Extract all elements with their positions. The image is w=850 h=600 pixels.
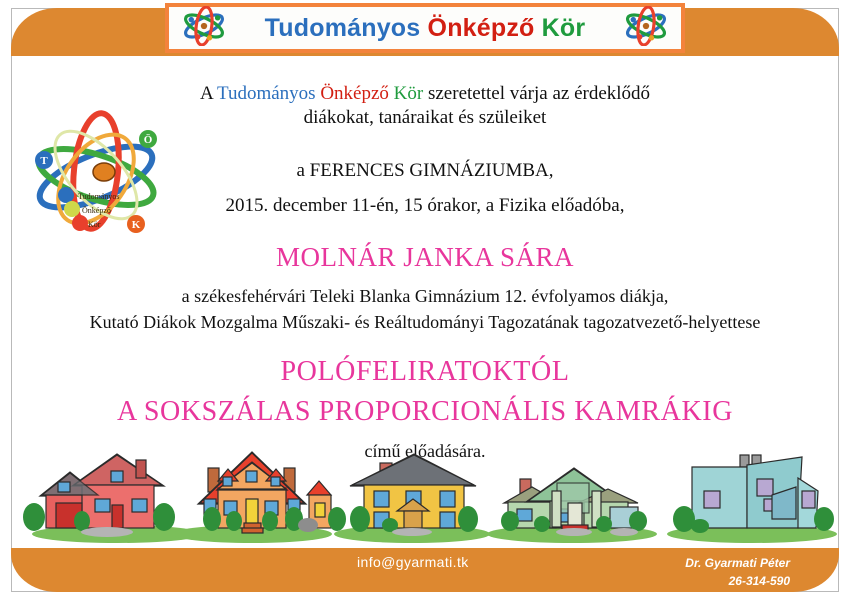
intro-line-2: diákokat, tanáraikat és szüleiket xyxy=(12,106,838,130)
atom-icon xyxy=(181,6,227,51)
poster-text-block: A Tudományos Önképző Kör szeretettel vár… xyxy=(12,57,838,462)
banner-word-tudomanyos: Tudományos xyxy=(265,14,421,42)
red-ranch-house xyxy=(23,454,202,543)
speaker-subtitle-2: Kutató Diákok Mozgalma Műszaki- és Reált… xyxy=(12,311,838,333)
intro-org-kor: Kör xyxy=(394,83,424,104)
footer-contact-name: Dr. Gyarmati Péter xyxy=(685,556,790,570)
atom-icon xyxy=(623,6,669,51)
footer-email[interactable]: info@gyarmati.tk xyxy=(357,554,469,570)
intro-line-1: A Tudományos Önképző Kör szeretettel vár… xyxy=(12,82,838,106)
organization-banner: Tudományos Önképző Kör xyxy=(165,3,685,53)
banner-word-onkepzo: Önképző xyxy=(428,14,535,42)
lecture-title-line-1: POLÓFELIRATOKTÓL xyxy=(12,355,838,390)
speaker-subtitle-1: a székesfehérvári Teleki Blanka Gimnáziu… xyxy=(12,285,838,307)
yellow-colonial-house xyxy=(334,454,490,543)
houses-row-illustration xyxy=(12,433,838,548)
footer-contact-phone: 26-314-590 xyxy=(729,574,790,588)
orange-two-story-house xyxy=(172,452,346,543)
intro-prefix: A xyxy=(200,83,217,104)
banner-word-kor: Kör xyxy=(542,14,586,42)
banner-title: Tudományos Önképző Kör xyxy=(265,14,586,43)
green-bungalow-house xyxy=(487,468,657,543)
intro-suffix: szeretettel várja az érdeklődő xyxy=(423,83,650,104)
intro-org-tudomanyos: Tudományos xyxy=(217,83,316,104)
venue-line: a FERENCES GIMNÁZIUMBA, xyxy=(12,159,838,183)
speaker-name: MOLNÁR JANKA SÁRA xyxy=(12,241,838,274)
blue-modern-house xyxy=(667,455,837,543)
organization-banner-inner: Tudományos Önképző Kör xyxy=(169,7,681,49)
lecture-title-line-2: A SOKSZÁLAS PROPORCIONÁLIS KAMRÁKIG xyxy=(12,395,838,430)
poster-body: T Ö K Tudományos Önképző Kör A Tudományo… xyxy=(12,57,838,548)
date-time-line: 2015. december 11-én, 15 órakor, a Fizik… xyxy=(12,194,838,218)
intro-org-onkepzo: Önképző xyxy=(320,83,389,104)
poster-root: Tudományos Önképző Kör xyxy=(0,0,850,600)
